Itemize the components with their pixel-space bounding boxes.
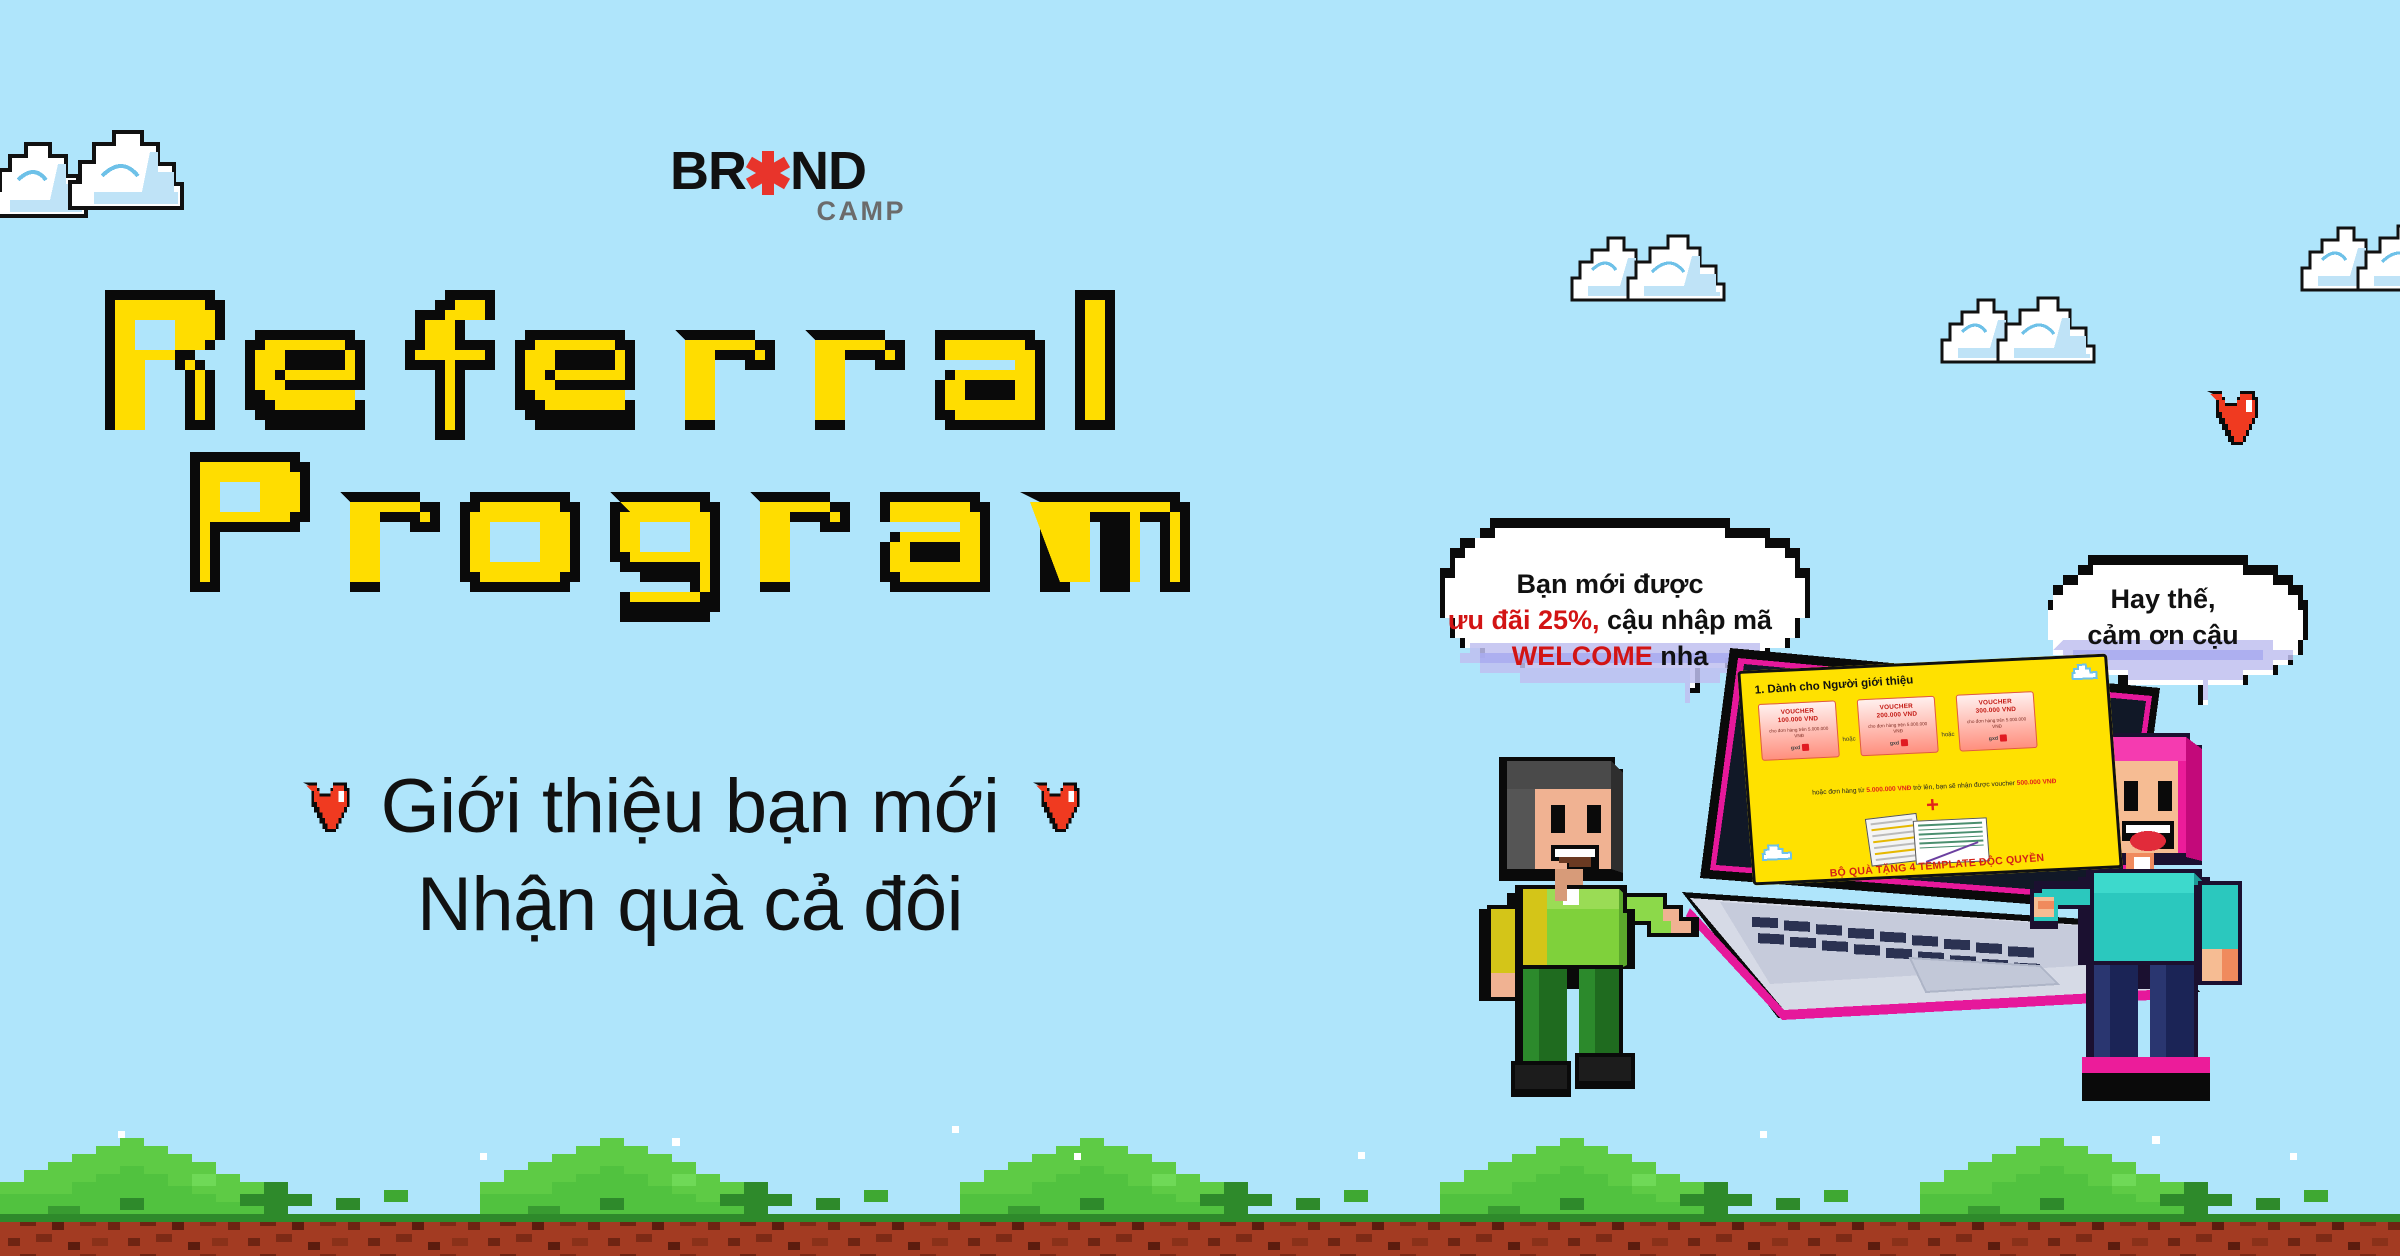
note-highlight-1: 5.000.000 VNĐ	[1866, 785, 1912, 794]
sparkle-icon	[2290, 1153, 2297, 1160]
voucher-logo-text: gxd	[1989, 735, 1999, 741]
subtitle-line-1-row: Giới thiệu bạn mới	[100, 758, 1280, 856]
voucher-condition: cho đơn hàng trên 5.000.000 VNĐ	[1961, 716, 2032, 731]
subtitle-line-1: Giới thiệu bạn mới	[381, 758, 1000, 856]
subtitle-line-2-row: Nhận quà cả đôi	[100, 856, 1280, 954]
logo-text-after-star: ND	[790, 142, 866, 200]
character-referrer	[1455, 725, 1705, 1125]
sparkle-icon	[1074, 1153, 1081, 1160]
pixel-ground	[0, 1126, 2400, 1256]
bubble-right-line-1: Hay thế,	[2044, 581, 2282, 617]
heart-icon	[2198, 385, 2264, 445]
cloud-icon	[2290, 200, 2400, 300]
sparkle-icon	[118, 1131, 125, 1138]
voucher-card: VOUCHER 200.000 VND cho đơn hàng trên 5.…	[1857, 696, 1939, 757]
title-line-program	[180, 442, 1435, 622]
voucher-condition: cho đơn hàng trên 5.000.000 VNĐ	[1764, 726, 1835, 741]
sparkle-icon	[2152, 1136, 2160, 1144]
bubble-left-line-1: Bạn mới được	[1436, 566, 1784, 602]
voucher-condition: cho đơn hàng trên 5.000.000 VNĐ	[1863, 721, 1934, 736]
subtitle-line-2: Nhận quà cả đôi	[417, 856, 963, 954]
logo-square-icon	[1802, 744, 1810, 751]
sparkle-icon	[1358, 1152, 1365, 1159]
voucher-separator: hoặc	[1841, 714, 1856, 743]
bubble-left-line-3: WELCOME nha	[1436, 638, 1784, 674]
brand-camp-logo[interactable]: BR ND CAMP	[628, 142, 908, 227]
title-line-referral	[95, 280, 1435, 450]
sparkle-icon	[480, 1153, 487, 1160]
voucher-card: VOUCHER 300.000 VND cho đơn hàng trên 5.…	[1956, 691, 2038, 752]
voucher-list: VOUCHER 100.000 VND cho đơn hàng trên 5.…	[1758, 688, 2102, 761]
banner-canvas: BR ND CAMP	[0, 0, 2400, 1256]
sparkle-icon	[672, 1138, 680, 1146]
voucher-logo-text: gxd	[1890, 740, 1900, 746]
voucher-card: VOUCHER 100.000 VND cho đơn hàng trên 5.…	[1758, 700, 1840, 761]
laptop-screen-slide: 1. Dành cho Người giới thiệu VOUCHER 100…	[1737, 654, 2122, 886]
bubble-left-promo-code: WELCOME	[1512, 641, 1653, 671]
star-icon	[746, 149, 790, 197]
logo-square-icon	[2000, 734, 2008, 741]
heart-icon	[1025, 758, 1085, 856]
voucher-separator: hoặc	[1940, 709, 1955, 738]
heart-icon	[295, 758, 355, 856]
gxd-logo: gxd	[1864, 738, 1934, 748]
cloud-icon	[1560, 210, 1750, 310]
gxd-logo: gxd	[1963, 733, 2033, 743]
cloud-icon	[1930, 272, 2120, 372]
logo-text-before-star: BR	[670, 142, 746, 200]
bubble-right-text: Hay thế, cảm ơn cậu	[2018, 545, 2308, 653]
subtitle-block: Giới thiệu bạn mới Nhận quà cả đôi	[100, 758, 1280, 954]
page-title	[95, 280, 1435, 622]
note-highlight-2: 500.000 VNĐ	[2017, 778, 2057, 787]
bubble-left-line-3-rest: nha	[1653, 641, 1709, 671]
gxd-logo: gxd	[1765, 742, 1835, 752]
bubble-left-text: Bạn mới được ưu đãi 25%, cậu nhập mã WEL…	[1400, 508, 1820, 674]
note-prefix: hoặc đơn hàng từ	[1812, 787, 1867, 797]
cloud-icon	[0, 100, 230, 230]
bubble-left-line-2: ưu đãi 25%, cậu nhập mã	[1436, 602, 1784, 638]
voucher-logo-text: gxd	[1791, 745, 1801, 751]
bubble-left-line-2-rest: cậu nhập mã	[1600, 605, 1773, 635]
bubble-left-discount: ưu đãi 25%,	[1448, 605, 1600, 635]
bubble-right-line-2: cảm ơn cậu	[2044, 617, 2282, 653]
logo-square-icon	[1901, 739, 1909, 746]
sparkle-icon	[952, 1126, 959, 1133]
logo-wordmark: BR ND	[628, 142, 908, 200]
slide-title: 1. Dành cho Người giới thiệu	[1754, 674, 1914, 696]
sparkle-icon	[1760, 1131, 1767, 1138]
